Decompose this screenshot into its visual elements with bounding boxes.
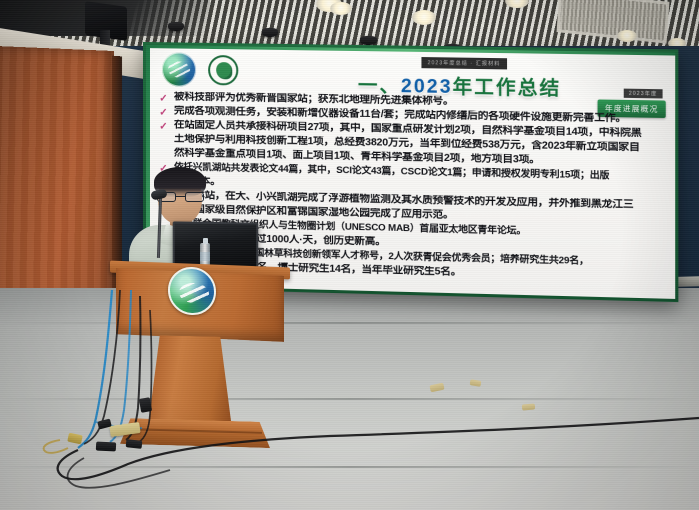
slide-top-tag: 2023年度总结 · 汇报材料 bbox=[421, 57, 506, 69]
presentation-room-photo: 2023年度总结 · 汇报材料 一、2023年工作总结 2023年度 年度进展概… bbox=[0, 0, 699, 510]
check-icon: ✓ bbox=[158, 105, 169, 118]
globe-logo-icon bbox=[162, 52, 196, 87]
ceiling-spotlight bbox=[168, 22, 184, 31]
wetland-seal-logo-icon bbox=[208, 55, 238, 86]
floor-cables bbox=[0, 290, 699, 510]
slide-badge-mini: 2023年度 bbox=[624, 89, 663, 99]
laptop bbox=[173, 221, 259, 269]
slide-logos bbox=[162, 52, 238, 87]
ceiling-light bbox=[412, 10, 436, 25]
ceiling-spotlight bbox=[262, 28, 278, 37]
check-icon: ✓ bbox=[158, 119, 169, 132]
plug-adapter bbox=[139, 397, 152, 413]
ceiling-light bbox=[617, 30, 637, 42]
ceiling-light bbox=[330, 2, 352, 15]
plug-adapter bbox=[96, 441, 116, 451]
ceiling-spotlight bbox=[360, 36, 377, 45]
check-icon: ✓ bbox=[158, 91, 169, 104]
plug-adapter bbox=[126, 439, 143, 449]
